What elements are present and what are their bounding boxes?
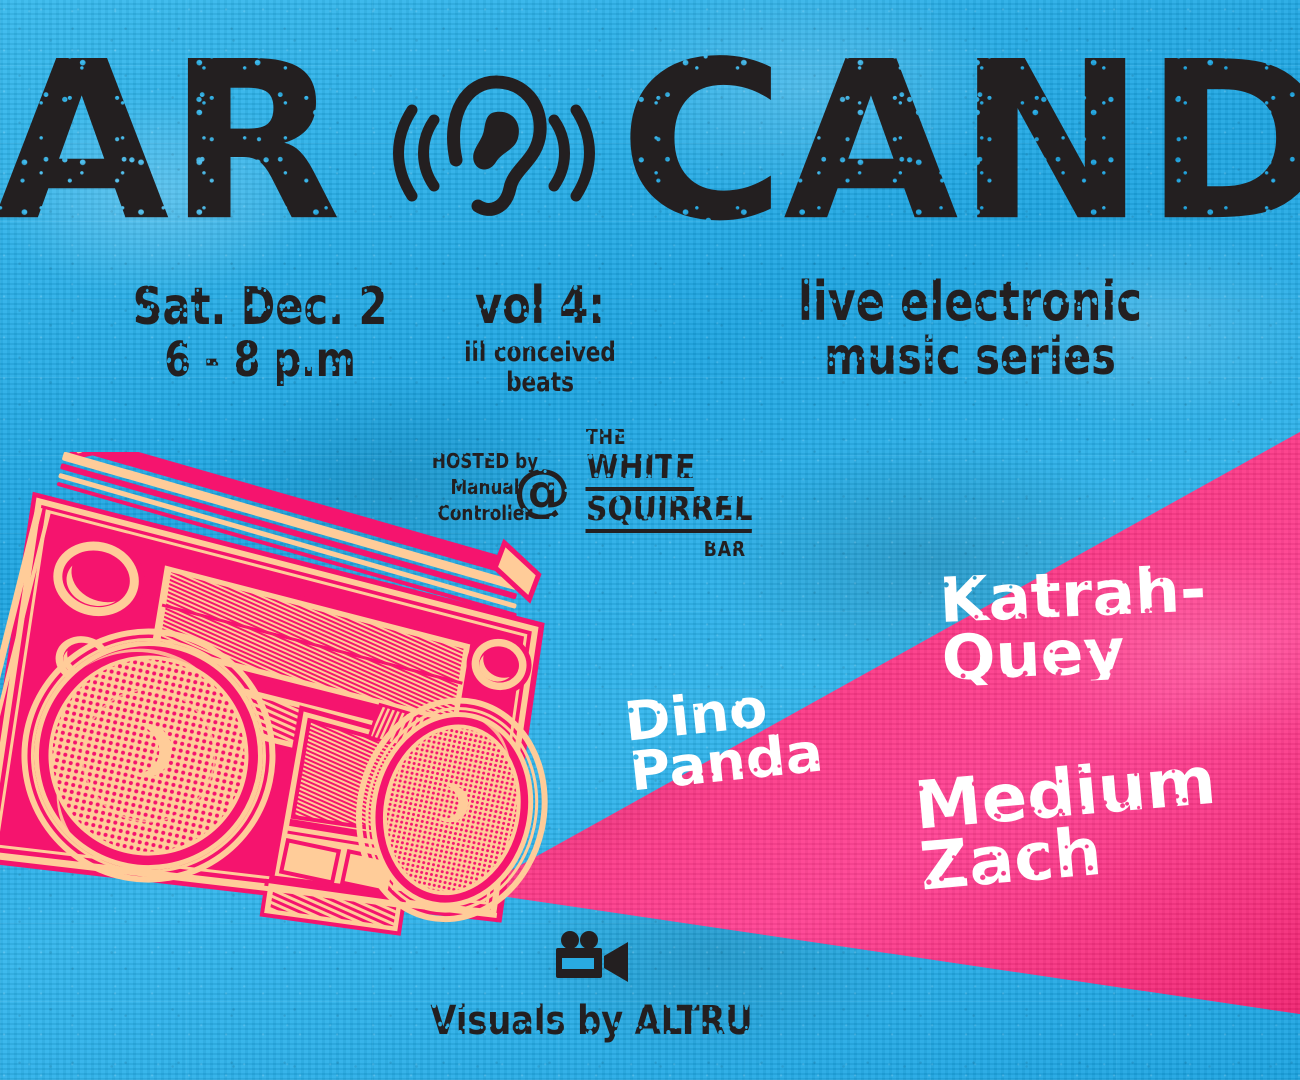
volume-number: vol 4: <box>448 280 632 333</box>
tagline-line1: live electronic <box>778 274 1162 329</box>
visuals-credit-block: Visuals by ALTRUIT <box>400 930 780 1044</box>
venue-block: THE WHITE SQUIRREL BAR <box>586 425 746 561</box>
visuals-credit-text: Visuals by ALTRUIT <box>430 998 749 1044</box>
venue-the: THE <box>586 425 724 449</box>
volume-subtitle-line2: beats <box>448 368 632 398</box>
venue-bar-label: BAR <box>608 537 746 561</box>
artist-name-katrah-quey: Katrah- Quey <box>938 559 1249 688</box>
venue-name-line2: SQUIRREL <box>585 491 753 533</box>
event-date-block: Sat. Dec. 2 6 - 8 p.m <box>100 280 420 387</box>
tagline-block: live electronic music series <box>730 274 1210 385</box>
volume-block: vol 4: ill conceived beats <box>425 280 655 399</box>
video-camera-icon <box>548 930 632 986</box>
venue-name-line1: WHITE <box>585 449 696 491</box>
event-time: 6 - 8 p.m <box>132 334 388 387</box>
at-symbol-icon: @ <box>505 461 579 519</box>
subheading-row: Sat. Dec. 2 6 - 8 p.m vol 4: ill conceiv… <box>0 272 1300 402</box>
poster-canvas: EAR CANDY Sat. Dec. 2 6 - 8 p.m vol 4: <box>0 0 1300 1080</box>
hosted-venue-row: HOSTED by Manual Controller @ THE WHITE … <box>0 443 1300 543</box>
tagline-line2: music series <box>778 329 1162 385</box>
event-date: Sat. Dec. 2 <box>132 280 388 334</box>
volume-subtitle-line1: ill conceived <box>448 338 632 368</box>
